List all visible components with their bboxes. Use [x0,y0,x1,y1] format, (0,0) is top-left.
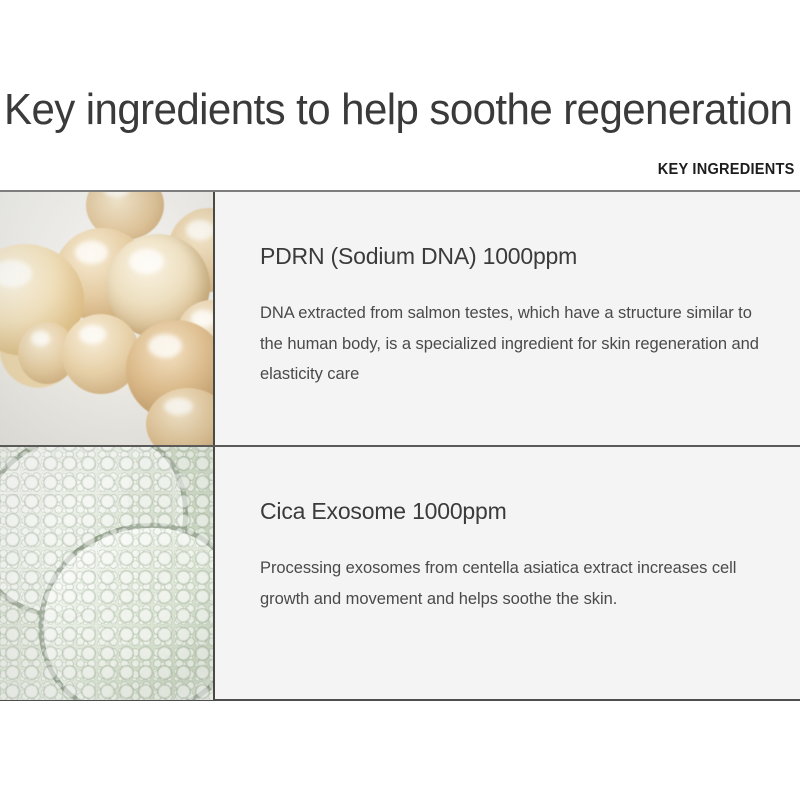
ingredient-row: Cica Exosome 1000ppm Processing exosomes… [0,447,800,700]
page-header: Key ingredients to help soothe regenerat… [0,0,800,190]
green-gel-photo [0,447,215,700]
ingredient-row: PDRN (Sodium DNA) 1000ppm DNA extracted … [0,192,800,445]
ingredient-copy: Cica Exosome 1000ppm Processing exosomes… [215,447,800,700]
ingredient-title: Cica Exosome 1000ppm [260,497,770,525]
photo-vignette [0,447,213,700]
ingredient-description: DNA extracted from salmon testes, which … [260,298,765,390]
ingredient-copy: PDRN (Sodium DNA) 1000ppm DNA extracted … [215,192,800,445]
ingredient-title: PDRN (Sodium DNA) 1000ppm [260,242,770,270]
ingredient-description: Processing exosomes from centella asiati… [260,553,765,614]
section-eyebrow-label: KEY INGREDIENTS [658,161,795,179]
golden-capsules-photo [0,192,215,445]
key-ingredients-panel: PDRN (Sodium DNA) 1000ppm DNA extracted … [0,190,800,701]
page-title: Key ingredients to help soothe regenerat… [4,84,764,136]
photo-vignette [0,192,213,445]
